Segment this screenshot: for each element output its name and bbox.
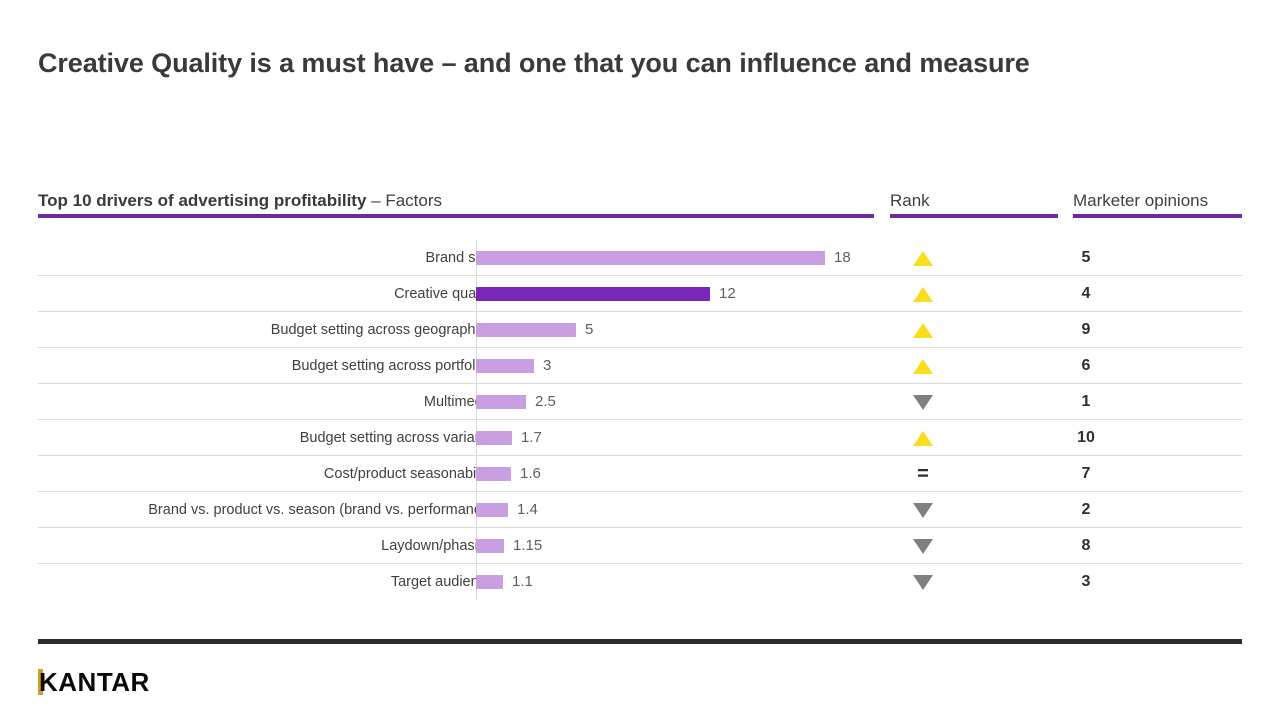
bar-cell: 5 [476, 312, 890, 348]
value-bar [476, 359, 534, 373]
drivers-table: Brand size185Creative quality124Budget s… [38, 240, 1242, 600]
column-header-factors: Top 10 drivers of advertising profitabil… [38, 191, 442, 211]
triangle-down-icon [913, 395, 933, 410]
bar-cell: 12 [476, 276, 890, 312]
marketer-opinion-value: 4 [1056, 276, 1116, 312]
bar-cell: 1.7 [476, 420, 890, 456]
column-header-factors-strong: Top 10 drivers of advertising profitabil… [38, 191, 366, 210]
triangle-up-icon [913, 359, 933, 374]
bar-value-label: 1.4 [517, 492, 538, 528]
rank-arrow-down-icon [893, 384, 953, 420]
bar-value-label: 18 [834, 240, 851, 276]
bar-value-label: 1.6 [520, 456, 541, 492]
marketer-opinion-value: 1 [1056, 384, 1116, 420]
rank-arrow-down-icon [893, 528, 953, 564]
bar-cell: 18 [476, 240, 890, 276]
marketer-opinion-value: 7 [1056, 456, 1116, 492]
bar-cell: 1.6 [476, 456, 890, 492]
bar-value-label: 2.5 [535, 384, 556, 420]
logo-wordmark: KANTAR [39, 669, 150, 695]
value-bar [476, 431, 512, 445]
bar-value-label: 1.7 [521, 420, 542, 456]
footer-divider [38, 639, 1242, 644]
table-row: Multimedia2.51 [38, 384, 1242, 420]
table-header: Top 10 drivers of advertising profitabil… [38, 180, 1242, 218]
value-bar [476, 287, 710, 301]
table-row: Target audience1.13 [38, 564, 1242, 600]
rank-arrow-up-icon [893, 312, 953, 348]
value-bar [476, 395, 526, 409]
header-rule-marketer-opinions [1073, 214, 1242, 218]
marketer-opinion-value: 3 [1056, 564, 1116, 600]
table-row: Laydown/phasing1.158 [38, 528, 1242, 564]
rank-arrow-up-icon [893, 420, 953, 456]
triangle-up-icon [913, 251, 933, 266]
table-row: Creative quality124 [38, 276, 1242, 312]
bar-cell: 2.5 [476, 384, 890, 420]
triangle-up-icon [913, 287, 933, 302]
value-bar [476, 467, 511, 481]
rank-equals-icon: = [893, 456, 953, 492]
triangle-up-icon [913, 431, 933, 446]
table-row: Budget setting across variants1.710 [38, 420, 1242, 456]
column-header-factors-light: – Factors [366, 191, 442, 210]
rank-arrow-up-icon [893, 240, 953, 276]
column-header-rank: Rank [890, 191, 930, 211]
marketer-opinion-value: 9 [1056, 312, 1116, 348]
equals-icon: = [917, 464, 929, 484]
value-bar [476, 575, 503, 589]
page-title: Creative Quality is a must have – and on… [38, 48, 1238, 79]
triangle-down-icon [913, 539, 933, 554]
rank-arrow-down-icon [893, 492, 953, 528]
marketer-opinion-value: 10 [1056, 420, 1116, 456]
triangle-down-icon [913, 503, 933, 518]
bar-value-label: 12 [719, 276, 736, 312]
bar-value-label: 3 [543, 348, 551, 384]
bar-cell: 1.1 [476, 564, 890, 600]
table-row: Budget setting across geographies59 [38, 312, 1242, 348]
header-rule-factors [38, 214, 874, 218]
table-row: Cost/product seasonability1.6=7 [38, 456, 1242, 492]
bar-value-label: 1.1 [512, 564, 533, 600]
value-bar [476, 539, 504, 553]
bar-cell: 1.4 [476, 492, 890, 528]
value-bar [476, 323, 576, 337]
table-row: Brand size185 [38, 240, 1242, 276]
table-row: Brand vs. product vs. season (brand vs. … [38, 492, 1242, 528]
row-label: Budget setting across geographies [271, 312, 494, 348]
rank-arrow-up-icon [893, 276, 953, 312]
table-row: Budget setting across portfolios36 [38, 348, 1242, 384]
marketer-opinion-value: 8 [1056, 528, 1116, 564]
marketer-opinion-value: 5 [1056, 240, 1116, 276]
marketer-opinion-value: 2 [1056, 492, 1116, 528]
header-rule-rank [890, 214, 1058, 218]
triangle-up-icon [913, 323, 933, 338]
kantar-logo: KANTAR [38, 667, 150, 697]
row-label: Budget setting across portfolios [292, 348, 494, 384]
row-label: Cost/product seasonability [324, 456, 494, 492]
rank-arrow-down-icon [893, 564, 953, 600]
bar-value-label: 5 [585, 312, 593, 348]
triangle-down-icon [913, 575, 933, 590]
bar-cell: 3 [476, 348, 890, 384]
column-header-marketer-opinions: Marketer opinions [1073, 191, 1208, 211]
bar-cell: 1.15 [476, 528, 890, 564]
row-label: Brand vs. product vs. season (brand vs. … [148, 492, 494, 528]
value-bar [476, 503, 508, 517]
bar-value-label: 1.15 [513, 528, 542, 564]
marketer-opinion-value: 6 [1056, 348, 1116, 384]
value-bar [476, 251, 825, 265]
row-label: Budget setting across variants [300, 420, 494, 456]
rank-arrow-up-icon [893, 348, 953, 384]
